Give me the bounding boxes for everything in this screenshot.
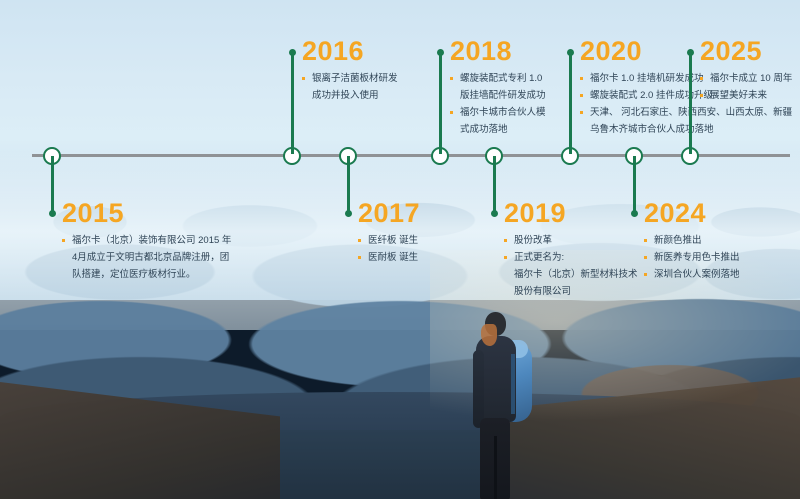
milestone-line: 正式更名为: <box>504 251 638 265</box>
stem-endpoint-2020 <box>567 49 574 56</box>
milestone-line: 新医养专用色卡推出 <box>644 251 740 265</box>
milestone-block-2017: 2017医纤板 诞生医耐板 诞生 <box>358 200 420 268</box>
milestone-bullets-2024: 新颜色推出新医养专用色卡推出深圳合伙人案例落地 <box>644 234 740 282</box>
milestone-line: 深圳合伙人案例落地 <box>644 268 740 282</box>
stem-endpoint-2017 <box>345 210 352 217</box>
milestone-line: 股份改革 <box>504 234 638 248</box>
milestone-line: 福尔卡（北京）新型材料技术 <box>504 268 638 282</box>
milestone-block-2016: 2016银离子洁菌板材研发成功并投入使用 <box>302 38 398 106</box>
hiker-hair <box>481 324 497 346</box>
milestone-line: 展望美好未来 <box>700 89 792 103</box>
milestone-line: 成功并投入使用 <box>302 89 398 103</box>
milestone-bullets-2025: 福尔卡成立 10 周年展望美好未来 <box>700 72 792 103</box>
milestone-line: 医纤板 诞生 <box>358 234 420 248</box>
milestone-line: 版挂墙配件研发成功 <box>450 89 546 103</box>
milestone-line: 医耐板 诞生 <box>358 251 420 265</box>
milestone-block-2019: 2019股份改革正式更名为:福尔卡（北京）新型材料技术股份有限公司 <box>504 200 638 302</box>
timeline-stem-2020 <box>569 52 572 154</box>
timeline-stem-2025 <box>689 52 692 154</box>
milestone-block-2025: 2025福尔卡成立 10 周年展望美好未来 <box>700 38 792 106</box>
milestone-line: 4月成立于文明古都北京品牌注册，团 <box>62 251 231 265</box>
stem-endpoint-2019 <box>491 210 498 217</box>
stem-endpoint-2016 <box>289 49 296 56</box>
stem-endpoint-2015 <box>49 210 56 217</box>
milestone-line: 福尔卡成立 10 周年 <box>700 72 792 86</box>
milestone-bullets-2016: 银离子洁菌板材研发成功并投入使用 <box>302 72 398 103</box>
milestone-year-2025: 2025 <box>700 38 792 65</box>
milestone-year-2015: 2015 <box>62 200 231 227</box>
milestone-block-2018: 2018螺旋装配式专利 1.0版挂墙配件研发成功福尔卡城市合伙人模式成功落地 <box>450 38 546 140</box>
milestone-line: 式成功落地 <box>450 123 546 137</box>
milestone-year-2024: 2024 <box>644 200 740 227</box>
milestone-block-2024: 2024新颜色推出新医养专用色卡推出深圳合伙人案例落地 <box>644 200 740 285</box>
stem-endpoint-2018 <box>437 49 444 56</box>
milestone-line: 乌鲁木齐城市合伙人成功落地 <box>580 123 792 137</box>
milestone-line: 队搭建，定位医疗板材行业。 <box>62 268 231 282</box>
milestone-line: 螺旋装配式专利 1.0 <box>450 72 546 86</box>
stem-endpoint-2024 <box>631 210 638 217</box>
milestone-line: 银离子洁菌板材研发 <box>302 72 398 86</box>
timeline-infographic: 2015福尔卡（北京）装饰有限公司 2015 年4月成立于文明古都北京品牌注册，… <box>0 0 800 499</box>
stem-endpoint-2025 <box>687 49 694 56</box>
milestone-line: 福尔卡（北京）装饰有限公司 2015 年 <box>62 234 231 248</box>
milestone-bullets-2018: 螺旋装配式专利 1.0版挂墙配件研发成功福尔卡城市合伙人模式成功落地 <box>450 72 546 137</box>
milestone-line: 天津、 河北石家庄、陕西西安、山西太原、新疆 <box>580 106 792 120</box>
hiker-arm <box>473 350 484 428</box>
milestone-bullets-2015: 福尔卡（北京）装饰有限公司 2015 年4月成立于文明古都北京品牌注册，团队搭建… <box>62 234 231 282</box>
timeline-axis <box>32 154 790 157</box>
timeline-stem-2017 <box>347 156 350 214</box>
milestone-block-2015: 2015福尔卡（北京）装饰有限公司 2015 年4月成立于文明古都北京品牌注册，… <box>62 200 231 285</box>
milestone-line: 股份有限公司 <box>504 285 638 299</box>
hiker-figure <box>440 310 560 499</box>
milestone-bullets-2017: 医纤板 诞生医耐板 诞生 <box>358 234 420 265</box>
timeline-stem-2016 <box>291 52 294 154</box>
hiker-leg-gap <box>494 436 497 499</box>
timeline-stem-2018 <box>439 52 442 154</box>
milestone-bullets-2019: 股份改革正式更名为:福尔卡（北京）新型材料技术股份有限公司 <box>504 234 638 299</box>
milestone-year-2017: 2017 <box>358 200 420 227</box>
timeline-stem-2019 <box>493 156 496 214</box>
milestone-year-2016: 2016 <box>302 38 398 65</box>
backpack-strap <box>511 354 515 414</box>
milestone-year-2019: 2019 <box>504 200 638 227</box>
timeline-stem-2024 <box>633 156 636 214</box>
milestone-year-2018: 2018 <box>450 38 546 65</box>
milestone-line: 新颜色推出 <box>644 234 740 248</box>
timeline-stem-2015 <box>51 156 54 214</box>
milestone-line: 福尔卡城市合伙人模 <box>450 106 546 120</box>
